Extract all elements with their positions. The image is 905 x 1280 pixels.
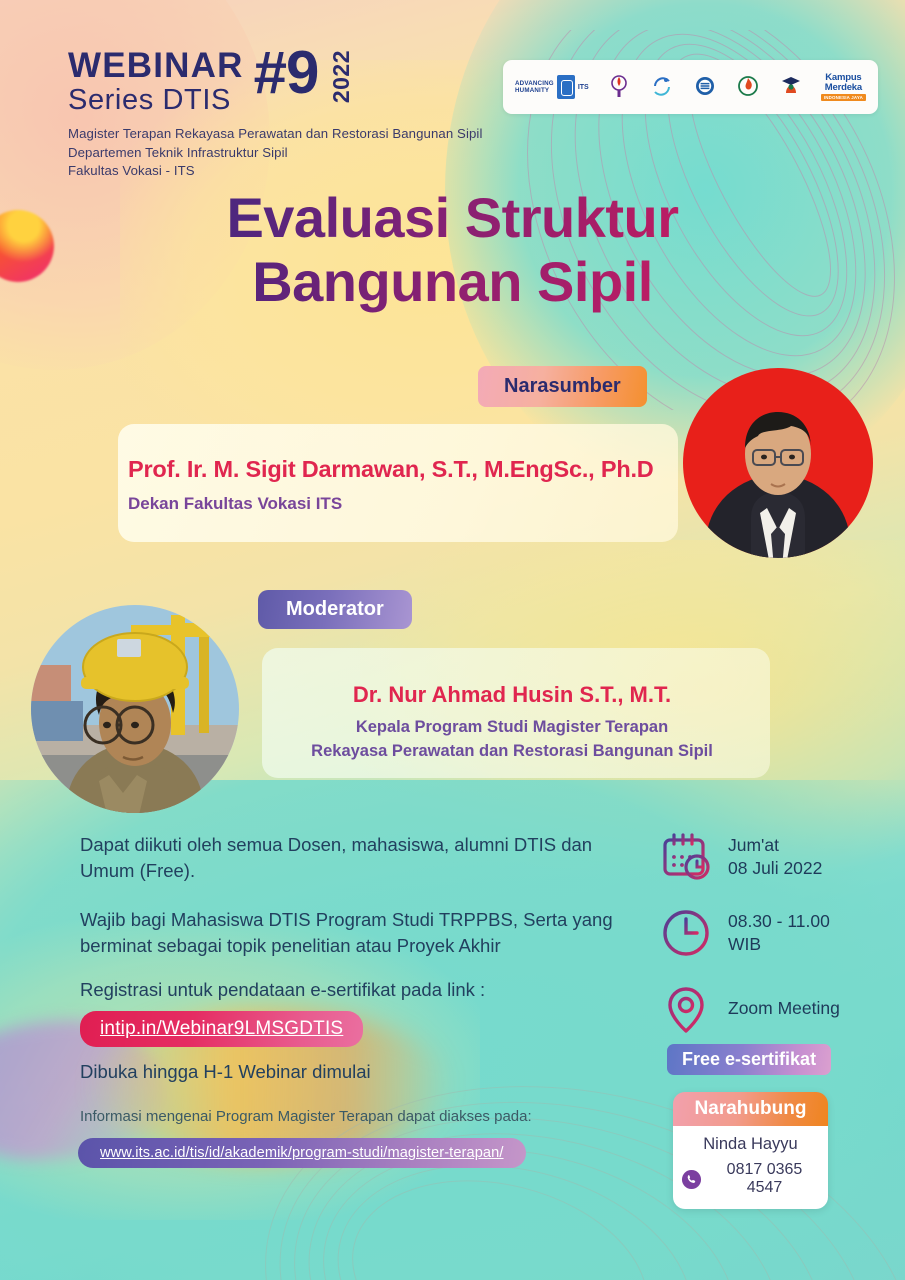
info-paragraph-1: Dapat diikuti oleh semua Dosen, mahasisw… [80, 832, 620, 885]
info-paragraph-2: Wajib bagi Mahasiswa DTIS Program Studi … [80, 907, 620, 960]
calendar-icon [660, 830, 714, 884]
moderator-name: Dr. Nur Ahmad Husin S.T., M.T. [262, 682, 762, 708]
tut-wuri-handayani-icon [606, 72, 632, 102]
info-block: Dapat diikuti oleh semua Dosen, mahasisw… [80, 832, 620, 1086]
program-info-note: Informasi mengenai Program Magister Tera… [80, 1108, 640, 1125]
event-date-text: Jum'at 08 Juli 2022 [728, 834, 822, 880]
event-timezone: WIB [728, 933, 830, 956]
header-webinar-text: WEBINAR [68, 48, 244, 83]
event-location-text: Zoom Meeting [728, 997, 840, 1020]
header-subtitle-line-2: Departemen Teknik Infrastruktur Sipil [68, 144, 498, 163]
contact-phone-number: 0817 0365 4547 [709, 1161, 820, 1197]
header-subtitle-block: Magister Terapan Rekayasa Perawatan dan … [68, 125, 498, 181]
location-pin-icon [660, 982, 714, 1036]
contact-card: Narahubung Ninda Hayyu 0817 0365 4547 [673, 1092, 828, 1209]
event-time-text: 08.30 - 11.00 WIB [728, 910, 830, 956]
its-label: ITS [578, 84, 589, 91]
moderator-role-line-1: Kepala Program Studi Magister Terapan [262, 716, 762, 740]
header-subtitle-line-1: Magister Terapan Rekayasa Perawatan dan … [68, 125, 498, 144]
narasumber-badge: Narasumber [478, 366, 647, 407]
event-time-row: 08.30 - 11.00 WIB [660, 906, 890, 960]
contact-person-name: Ninda Hayyu [681, 1135, 820, 1154]
flame-torch-icon [735, 72, 761, 102]
merdeka-text: Merdeka [825, 83, 862, 93]
event-day: Jum'at [728, 834, 822, 857]
header-episode-number: #9 [254, 44, 319, 101]
free-certificate-badge: Free e-sertifikat [667, 1044, 831, 1075]
speaker-card [118, 424, 678, 542]
gear-institute-icon [692, 72, 718, 102]
kampus-merdeka-logo: Kampus Merdeka INDONESIA JAYA [821, 73, 866, 100]
contact-card-header: Narahubung [673, 1092, 828, 1126]
event-date-row: Jum'at 08 Juli 2022 [660, 830, 890, 884]
graduation-cap-icon [778, 72, 804, 102]
header-subtitle-line-3: Fakultas Vokasi - ITS [68, 162, 498, 181]
kemendikbud-icon [649, 72, 675, 102]
webinar-poster: WEBINAR Series DTIS #9 2022 Magister Ter… [0, 0, 905, 1280]
event-time: 08.30 - 11.00 [728, 910, 830, 933]
registration-deadline-text: Dibuka hingga H-1 Webinar dimulai [80, 1059, 620, 1085]
contact-phone-row[interactable]: 0817 0365 4547 [681, 1161, 820, 1197]
moderator-role-line-2: Rekayasa Perawatan dan Restorasi Banguna… [262, 740, 762, 764]
institution-logo-bar: ADVANCING HUMANITY ITS [503, 60, 878, 114]
title-line-1: Evaluasi Struktur [0, 186, 905, 250]
registration-link-pill[interactable]: intip.in/Webinar9LMSGDTIS [80, 1011, 363, 1047]
header-year: 2022 [328, 50, 355, 103]
whatsapp-icon [681, 1169, 702, 1190]
header-series-text: Series DTIS [68, 86, 244, 115]
its-shield-icon [557, 75, 575, 99]
speaker-role: Dekan Fakultas Vokasi ITS [128, 494, 342, 514]
speaker-name: Prof. Ir. M. Sigit Darmawan, S.T., M.Eng… [128, 456, 654, 483]
advancing-humanity-its-logo: ADVANCING HUMANITY ITS [515, 75, 589, 99]
advancing-text: ADVANCING [515, 80, 554, 87]
humanity-text: HUMANITY [515, 87, 554, 94]
speaker-photo [683, 368, 873, 558]
contact-card-body: Ninda Hayyu 0817 0365 4547 [673, 1126, 828, 1209]
event-location-row: Zoom Meeting [660, 982, 890, 1036]
info-paragraph-3: Registrasi untuk pendataan e-sertifikat … [80, 977, 620, 1003]
merdeka-sub-text: INDONESIA JAYA [821, 94, 866, 101]
moderator-photo [31, 605, 239, 813]
program-url-pill[interactable]: www.its.ac.id/tis/id/akademik/program-st… [78, 1138, 526, 1168]
poster-title: Evaluasi Struktur Bangunan Sipil [0, 186, 905, 315]
poster-header: WEBINAR Series DTIS #9 2022 Magister Ter… [68, 48, 498, 181]
title-line-2: Bangunan Sipil [0, 250, 905, 314]
event-date: 08 Juli 2022 [728, 857, 822, 880]
clock-icon [660, 906, 714, 960]
moderator-badge: Moderator [258, 590, 412, 629]
event-meta-column: Jum'at 08 Juli 2022 08.30 - 11.00 WIB [660, 830, 890, 1058]
moderator-role: Kepala Program Studi Magister Terapan Re… [262, 716, 762, 764]
